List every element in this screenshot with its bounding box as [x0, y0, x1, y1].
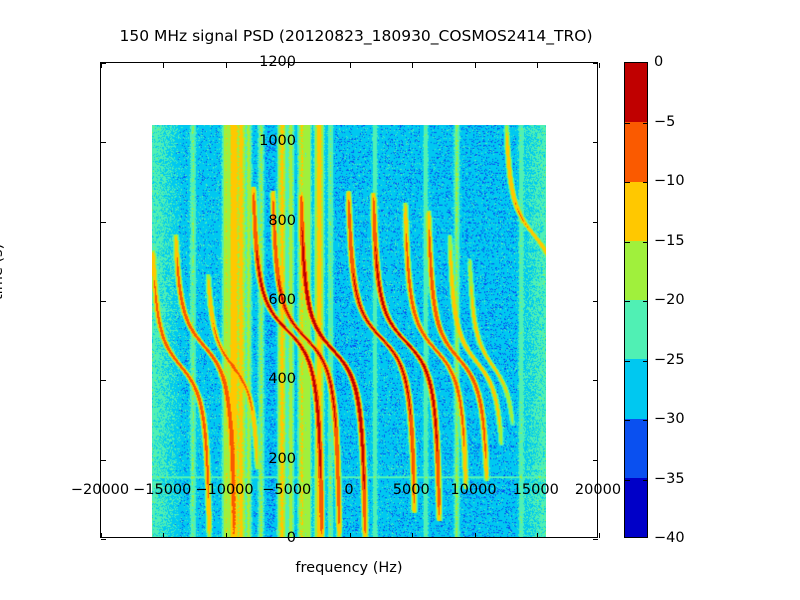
y-tick [101, 222, 106, 223]
colorbar-tick [625, 182, 630, 183]
y-tick-label: 400 [268, 371, 296, 387]
x-tick [475, 533, 476, 538]
colorbar-band [625, 419, 647, 478]
x-tick-label: 0 [344, 482, 353, 498]
x-tick-top [350, 63, 351, 68]
x-tick [163, 533, 164, 538]
y-tick-label: 1000 [259, 133, 296, 149]
colorbar-tick [625, 301, 630, 302]
x-axis-title: frequency (Hz) [100, 560, 598, 576]
y-tick-right [593, 301, 598, 302]
x-tick-top [226, 63, 227, 68]
spectrogram-canvas [152, 125, 546, 537]
colorbar-band [625, 300, 647, 359]
x-tick-label: 5000 [393, 482, 430, 498]
colorbar-tick-label: −5 [654, 114, 675, 130]
y-tick-right [593, 222, 598, 223]
colorbar [624, 62, 648, 538]
colorbar-tick-label: −30 [654, 411, 685, 427]
x-tick [226, 533, 227, 538]
colorbar-tick-right [643, 123, 648, 124]
y-tick-right [593, 63, 598, 64]
colorbar-band [625, 478, 647, 537]
y-tick-right [593, 142, 598, 143]
colorbar-band [625, 359, 647, 418]
colorbar-tick [625, 420, 630, 421]
plot-area [101, 63, 597, 537]
y-tick-label: 800 [268, 213, 296, 229]
y-tick [101, 460, 106, 461]
y-tick [101, 380, 106, 381]
colorbar-tick [625, 123, 630, 124]
figure-title: 150 MHz signal PSD (20120823_180930_COSM… [0, 27, 712, 45]
x-tick-label: 20000 [575, 482, 621, 498]
figure-canvas: 150 MHz signal PSD (20120823_180930_COSM… [0, 0, 800, 600]
colorbar-band [625, 182, 647, 241]
x-tick-label: −10000 [195, 482, 253, 498]
x-tick-top [163, 63, 164, 68]
colorbar-tick-label: 0 [654, 54, 663, 70]
colorbar-tick-right [643, 242, 648, 243]
y-axis-title: time (s) [0, 244, 6, 300]
colorbar-tick-label: −40 [654, 530, 685, 546]
colorbar-band [625, 241, 647, 300]
colorbar-tick-right [643, 361, 648, 362]
colorbar-tick-right [643, 301, 648, 302]
x-tick-label: −20000 [71, 482, 129, 498]
colorbar-band [625, 122, 647, 181]
spectrogram-image [152, 125, 546, 537]
x-tick-top [599, 63, 600, 68]
colorbar-tick-label: −10 [654, 173, 685, 189]
colorbar-tick-label: −35 [654, 471, 685, 487]
y-tick [101, 63, 106, 64]
x-tick [599, 533, 600, 538]
colorbar-tick-right [643, 182, 648, 183]
x-tick-top [475, 63, 476, 68]
colorbar-tick [625, 480, 630, 481]
y-tick-label: 200 [268, 451, 296, 467]
colorbar-band [625, 63, 647, 122]
colorbar-tick-label: −15 [654, 233, 685, 249]
y-tick-right [593, 380, 598, 381]
x-tick [537, 533, 538, 538]
y-tick [101, 301, 106, 302]
y-tick-label: 1200 [259, 54, 296, 70]
y-tick-right [593, 539, 598, 540]
colorbar-tick-label: −25 [654, 352, 685, 368]
x-tick-label: 10000 [450, 482, 496, 498]
plot-axes [100, 62, 598, 538]
x-tick [101, 533, 102, 538]
x-tick-label: 15000 [513, 482, 559, 498]
x-tick-label: −5000 [262, 482, 311, 498]
y-tick-label: 600 [268, 292, 296, 308]
x-tick-label: −15000 [133, 482, 191, 498]
y-tick [101, 142, 106, 143]
x-tick [350, 533, 351, 538]
colorbar-tick-label: −20 [654, 292, 685, 308]
colorbar-tick [625, 361, 630, 362]
x-tick-top [537, 63, 538, 68]
colorbar-tick-right [643, 480, 648, 481]
colorbar-tick-right [643, 420, 648, 421]
y-tick-label: 0 [287, 530, 296, 546]
x-tick-top [412, 63, 413, 68]
colorbar-tick [625, 242, 630, 243]
y-tick [101, 539, 106, 540]
y-tick-right [593, 460, 598, 461]
x-tick [412, 533, 413, 538]
